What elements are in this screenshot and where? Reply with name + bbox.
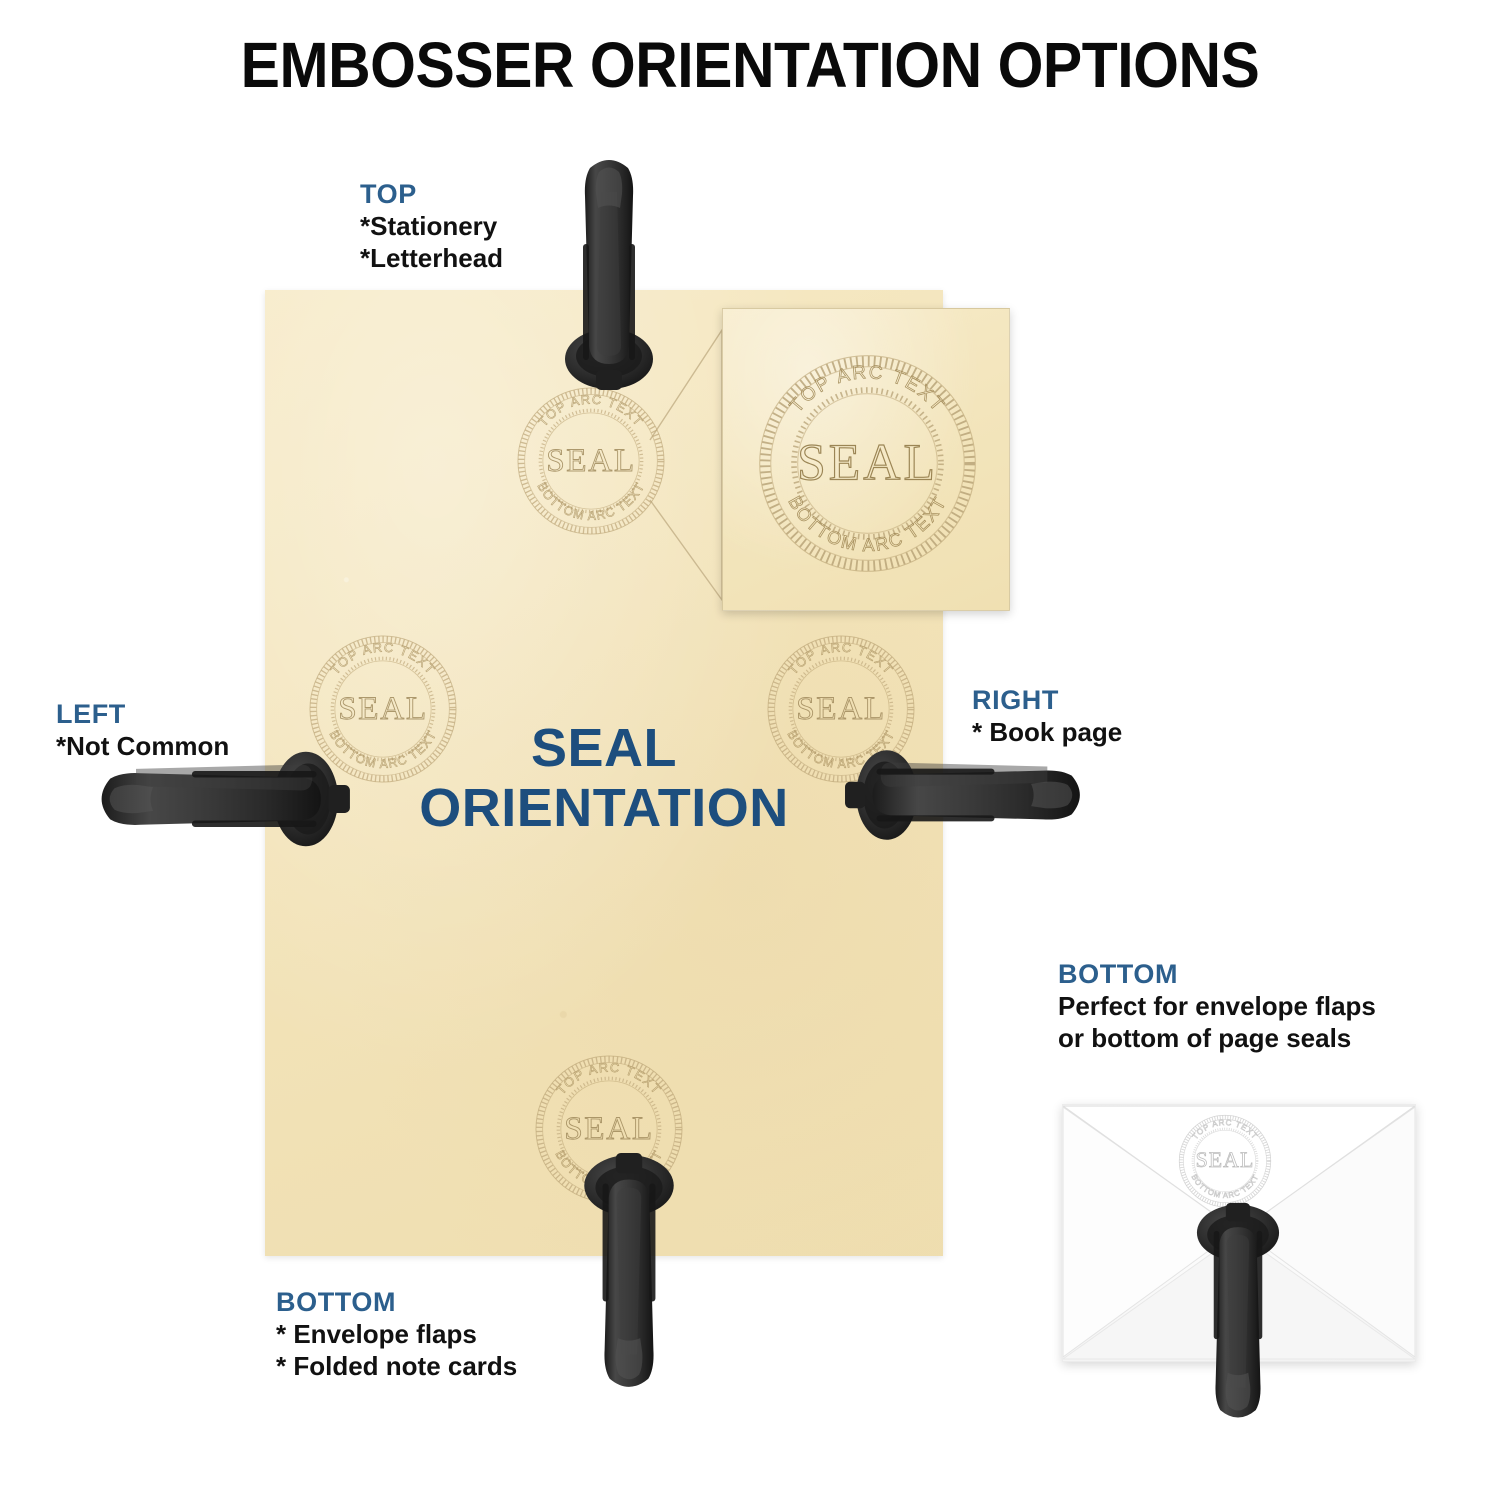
seal-impression-magnified: TOP ARC TEXT BOTTOM ARC TEXT SEAL	[745, 341, 990, 586]
svg-text:SEAL: SEAL	[797, 434, 938, 491]
svg-text:SEAL: SEAL	[1196, 1148, 1255, 1172]
callout-bottom-page: BOTTOM * Envelope flaps * Folded note ca…	[276, 1286, 517, 1382]
callout-top-line-2: *Letterhead	[360, 243, 503, 275]
callout-bottom-page-line-1: * Envelope flaps	[276, 1319, 517, 1351]
svg-text:BOTTOM ARC TEXT: BOTTOM ARC TEXT	[535, 480, 648, 523]
seal-impression-top: TOP ARC TEXT BOTTOM ARC TEXT SEAL	[508, 378, 674, 544]
callout-left-heading: LEFT	[56, 698, 229, 731]
center-seal-orientation-label: SEAL ORIENTATION	[265, 718, 943, 839]
callout-bottom-envelope-line-1: Perfect for envelope flaps	[1058, 991, 1376, 1023]
center-label-line1: SEAL	[265, 718, 943, 778]
embosser-tool-bottom-page[interactable]	[568, 1148, 690, 1398]
zoom-detail-panel: TOP ARC TEXT BOTTOM ARC TEXT SEAL	[722, 308, 1010, 611]
svg-text:SEAL: SEAL	[546, 442, 636, 479]
callout-bottom-envelope: BOTTOM Perfect for envelope flaps or bot…	[1058, 958, 1376, 1054]
callout-top-heading: TOP	[360, 178, 503, 211]
callout-bottom-envelope-heading: BOTTOM	[1058, 958, 1376, 991]
callout-right-line-1: * Book page	[972, 717, 1122, 749]
callout-bottom-envelope-line-2: or bottom of page seals	[1058, 1023, 1376, 1055]
callout-bottom-page-heading: BOTTOM	[276, 1286, 517, 1319]
embosser-tool-top[interactable]	[548, 152, 670, 392]
callout-right: RIGHT * Book page	[972, 684, 1122, 749]
callout-bottom-page-line-2: * Folded note cards	[276, 1351, 517, 1383]
callout-left: LEFT *Not Common	[56, 698, 229, 763]
callout-top-line-1: *Stationery	[360, 211, 503, 243]
page-title: EMBOSSER ORIENTATION OPTIONS	[60, 28, 1440, 102]
callout-right-heading: RIGHT	[972, 684, 1122, 717]
svg-text:SEAL: SEAL	[564, 1110, 654, 1147]
center-label-line2: ORIENTATION	[265, 778, 943, 838]
embosser-tool-envelope[interactable]	[1182, 1190, 1294, 1436]
callout-top: TOP *Stationery *Letterhead	[360, 178, 503, 274]
